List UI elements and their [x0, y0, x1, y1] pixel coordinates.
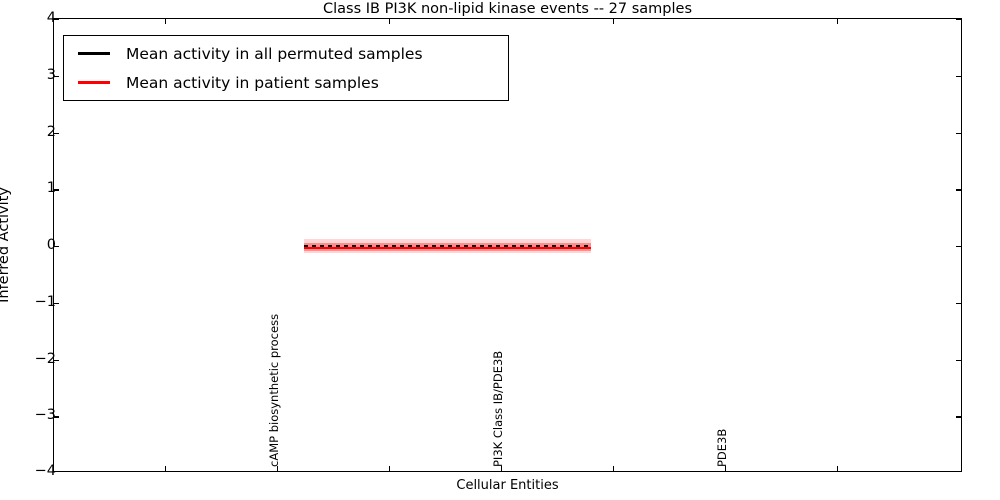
page-title: Class IB PI3K non-lipid kinase events --… — [53, 0, 962, 18]
y-tick-mark-right — [956, 76, 961, 77]
y-tick-label: 3 — [47, 67, 56, 83]
y-tick-label: −3 — [35, 407, 56, 423]
series-line-patient — [304, 247, 591, 249]
x-tick-label: PDE3B — [715, 429, 729, 467]
y-tick-label: 4 — [47, 10, 56, 26]
legend-entry-permuted: Mean activity in all permuted samples — [74, 40, 423, 67]
legend-label-patient: Mean activity in patient samples — [126, 74, 379, 92]
figure-canvas: Class IB PI3K non-lipid kinase events --… — [0, 0, 1000, 500]
legend-swatch-permuted — [78, 52, 110, 54]
y-tick-label: 0 — [47, 237, 56, 253]
plot-axes: cAMP biosynthetic process PI3K Class IB/… — [53, 18, 962, 472]
x-tick-mark-top — [389, 19, 390, 24]
legend-swatch-patient — [78, 81, 110, 83]
chart-legend: Mean activity in all permuted samples Me… — [63, 35, 509, 101]
x-tick-mark — [613, 466, 614, 471]
legend-label-permuted: Mean activity in all permuted samples — [126, 45, 423, 63]
x-tick-mark — [389, 466, 390, 471]
y-tick-label: 2 — [47, 124, 56, 140]
y-tick-mark-right — [956, 416, 961, 417]
series-line-permuted — [304, 245, 591, 247]
y-tick-mark-right — [956, 360, 961, 361]
y-tick-label: −4 — [35, 463, 56, 479]
y-tick-mark-right — [956, 133, 961, 134]
x-axis-label: Cellular Entities — [53, 478, 962, 493]
x-tick-mark-top — [837, 19, 838, 24]
y-tick-mark-right — [956, 303, 961, 304]
y-tick-label: −2 — [35, 351, 56, 367]
x-tick-label: PI3K Class IB/PDE3B — [491, 351, 505, 467]
y-tick-label: −1 — [35, 294, 56, 310]
x-tick-label: cAMP biosynthetic process — [267, 314, 281, 467]
y-axis-label: Inferred Activity — [0, 187, 12, 303]
x-tick-mark — [165, 466, 166, 471]
y-tick-mark-right — [956, 246, 961, 247]
legend-entry-patient: Mean activity in patient samples — [74, 69, 379, 96]
y-tick-mark-right — [956, 19, 961, 20]
y-tick-label: 1 — [47, 180, 56, 196]
x-tick-mark-top — [613, 19, 614, 24]
x-tick-mark-top — [165, 19, 166, 24]
y-tick-mark-right — [956, 189, 961, 190]
x-tick-mark — [837, 466, 838, 471]
